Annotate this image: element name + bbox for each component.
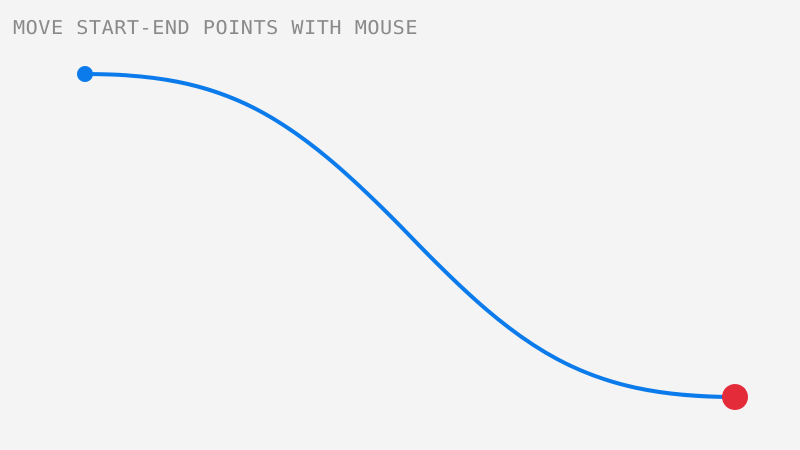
start-point-handle[interactable] bbox=[77, 66, 93, 82]
end-point-handle[interactable] bbox=[722, 384, 748, 410]
demo-canvas-stage[interactable]: MOVE START-END POINTS WITH MOUSE bbox=[0, 0, 800, 450]
bezier-canvas[interactable] bbox=[0, 0, 800, 450]
page-title: MOVE START-END POINTS WITH MOUSE bbox=[13, 17, 418, 39]
